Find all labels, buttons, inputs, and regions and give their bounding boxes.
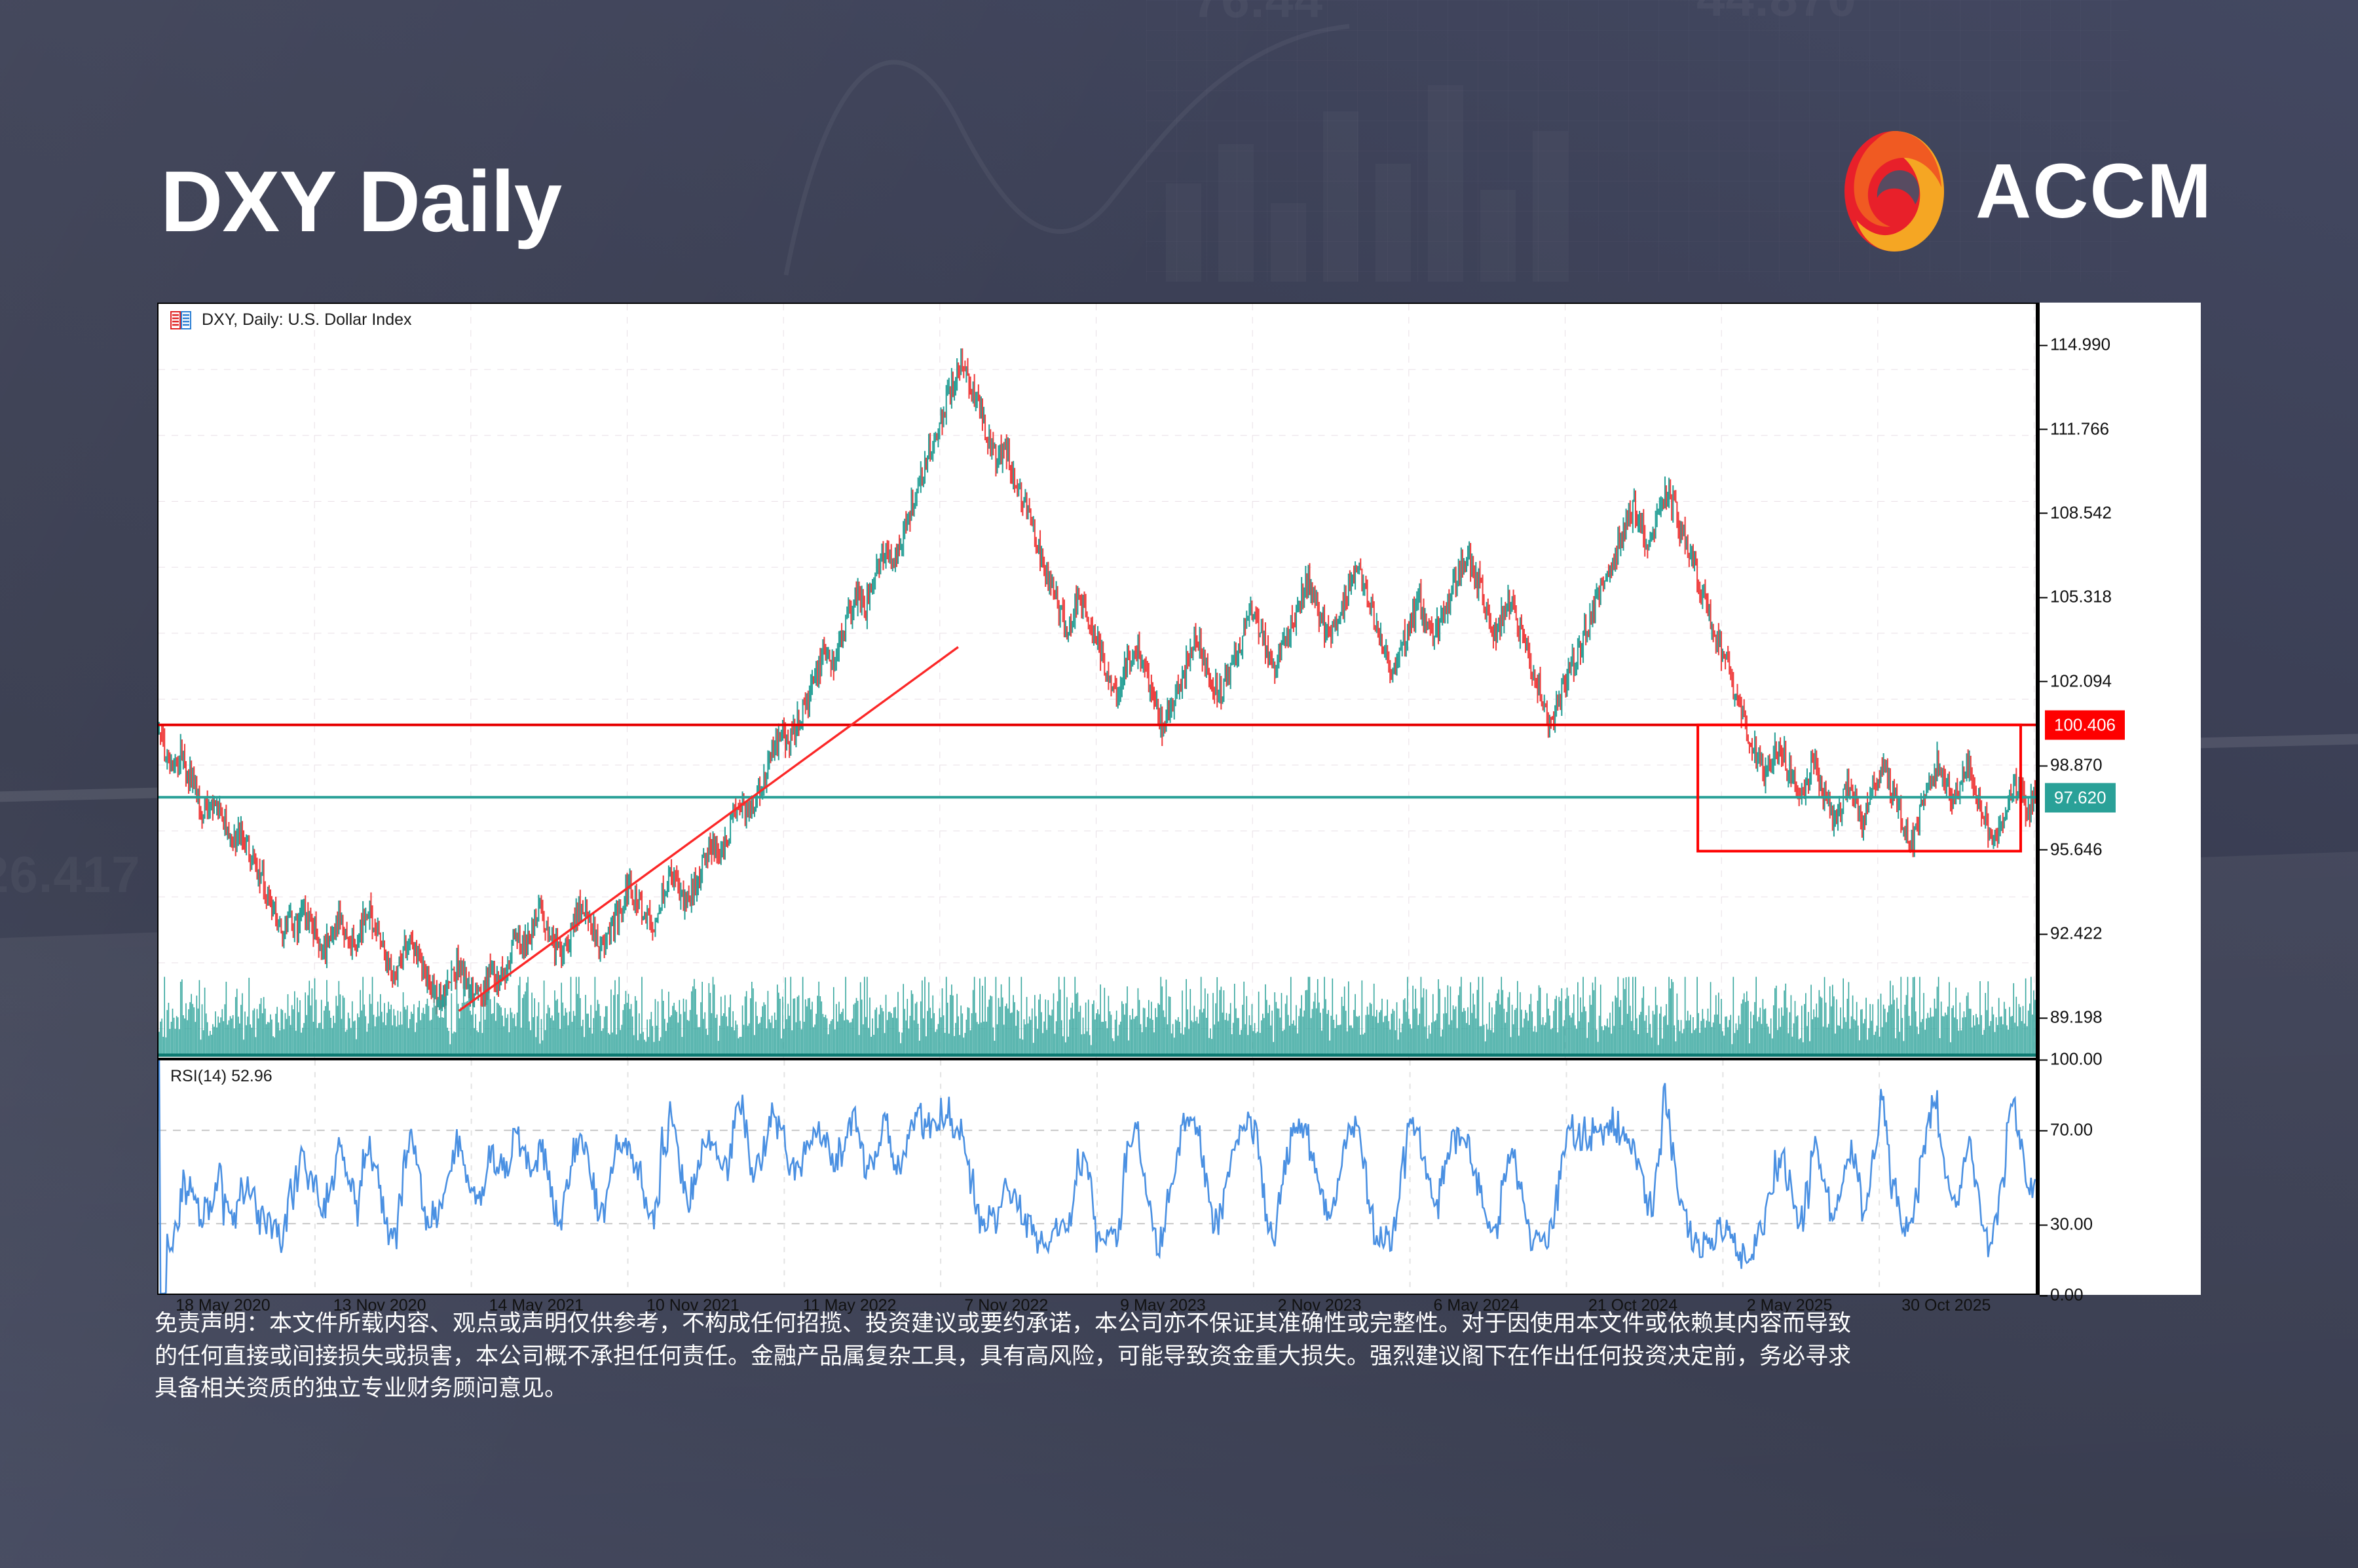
- price-axis-tick: 111.766: [2050, 419, 2109, 439]
- price-axis-tick: 114.990: [2050, 335, 2110, 355]
- rsi-legend: RSI(14) 52.96: [170, 1067, 272, 1086]
- rsi-series-svg: [159, 1060, 2036, 1294]
- disclaimer-line-1: 免责声明：本文件所载内容、观点或声明仅供参考，不构成任何招揽、投资建议或要约承诺…: [155, 1307, 2205, 1340]
- rsi-axis-tick: 0.00: [2050, 1285, 2084, 1305]
- price-axis-tick: 102.094: [2050, 671, 2112, 691]
- rsi-axis-tick: 70.00: [2050, 1120, 2093, 1140]
- disclaimer: 免责声明：本文件所载内容、观点或声明仅供参考，不构成任何招揽、投资建议或要约承诺…: [155, 1307, 2205, 1405]
- price-axis-tick: 92.422: [2050, 924, 2103, 944]
- legend-label: DXY, Daily: U.S. Dollar Index: [202, 310, 412, 329]
- chart-card[interactable]: DXY, Daily: U.S. Dollar Index RSI(14) 52…: [157, 303, 2201, 1295]
- current-price-label: 97.620: [2045, 783, 2116, 812]
- brand-logo: ACCM: [1842, 128, 2213, 254]
- price-axis[interactable]: 114.990111.766108.542105.318102.09498.87…: [2037, 303, 2201, 1295]
- accm-swirl-icon: [1842, 128, 1947, 254]
- disclaimer-line-3: 具备相关资质的独立专业财务顾问意见。: [155, 1372, 2205, 1405]
- page-title: DXY Daily: [160, 152, 561, 251]
- background-watermark-0: 26.417: [0, 845, 141, 905]
- price-axis-tick: 108.542: [2050, 502, 2112, 523]
- price-axis-tick: 105.318: [2050, 587, 2112, 607]
- plot-column[interactable]: DXY, Daily: U.S. Dollar Index RSI(14) 52…: [157, 303, 2037, 1295]
- header: DXY Daily ACCM: [0, 0, 2358, 295]
- chart-legend: DXY, Daily: U.S. Dollar Index: [170, 310, 412, 329]
- price-panel[interactable]: DXY, Daily: U.S. Dollar Index: [157, 303, 2037, 1059]
- price-axis-tick: 95.646: [2050, 839, 2103, 859]
- candles-icon: [170, 311, 191, 329]
- rsi-panel[interactable]: RSI(14) 52.96: [157, 1059, 2037, 1295]
- price-axis-tick: 89.198: [2050, 1007, 2103, 1028]
- rsi-axis-tick: 100.00: [2050, 1049, 2103, 1070]
- resistance-price-label: 100.406: [2045, 711, 2125, 740]
- rsi-label: RSI(14) 52.96: [170, 1067, 272, 1086]
- brand-wordmark: ACCM: [1975, 147, 2213, 236]
- price-series-svg: [159, 304, 2036, 1058]
- rsi-axis-tick: 30.00: [2050, 1214, 2093, 1235]
- disclaimer-line-2: 的任何直接或间接损失或损害，本公司概不承担任何责任。金融产品属复杂工具，具有高风…: [155, 1340, 2205, 1373]
- price-axis-tick: 98.870: [2050, 755, 2103, 775]
